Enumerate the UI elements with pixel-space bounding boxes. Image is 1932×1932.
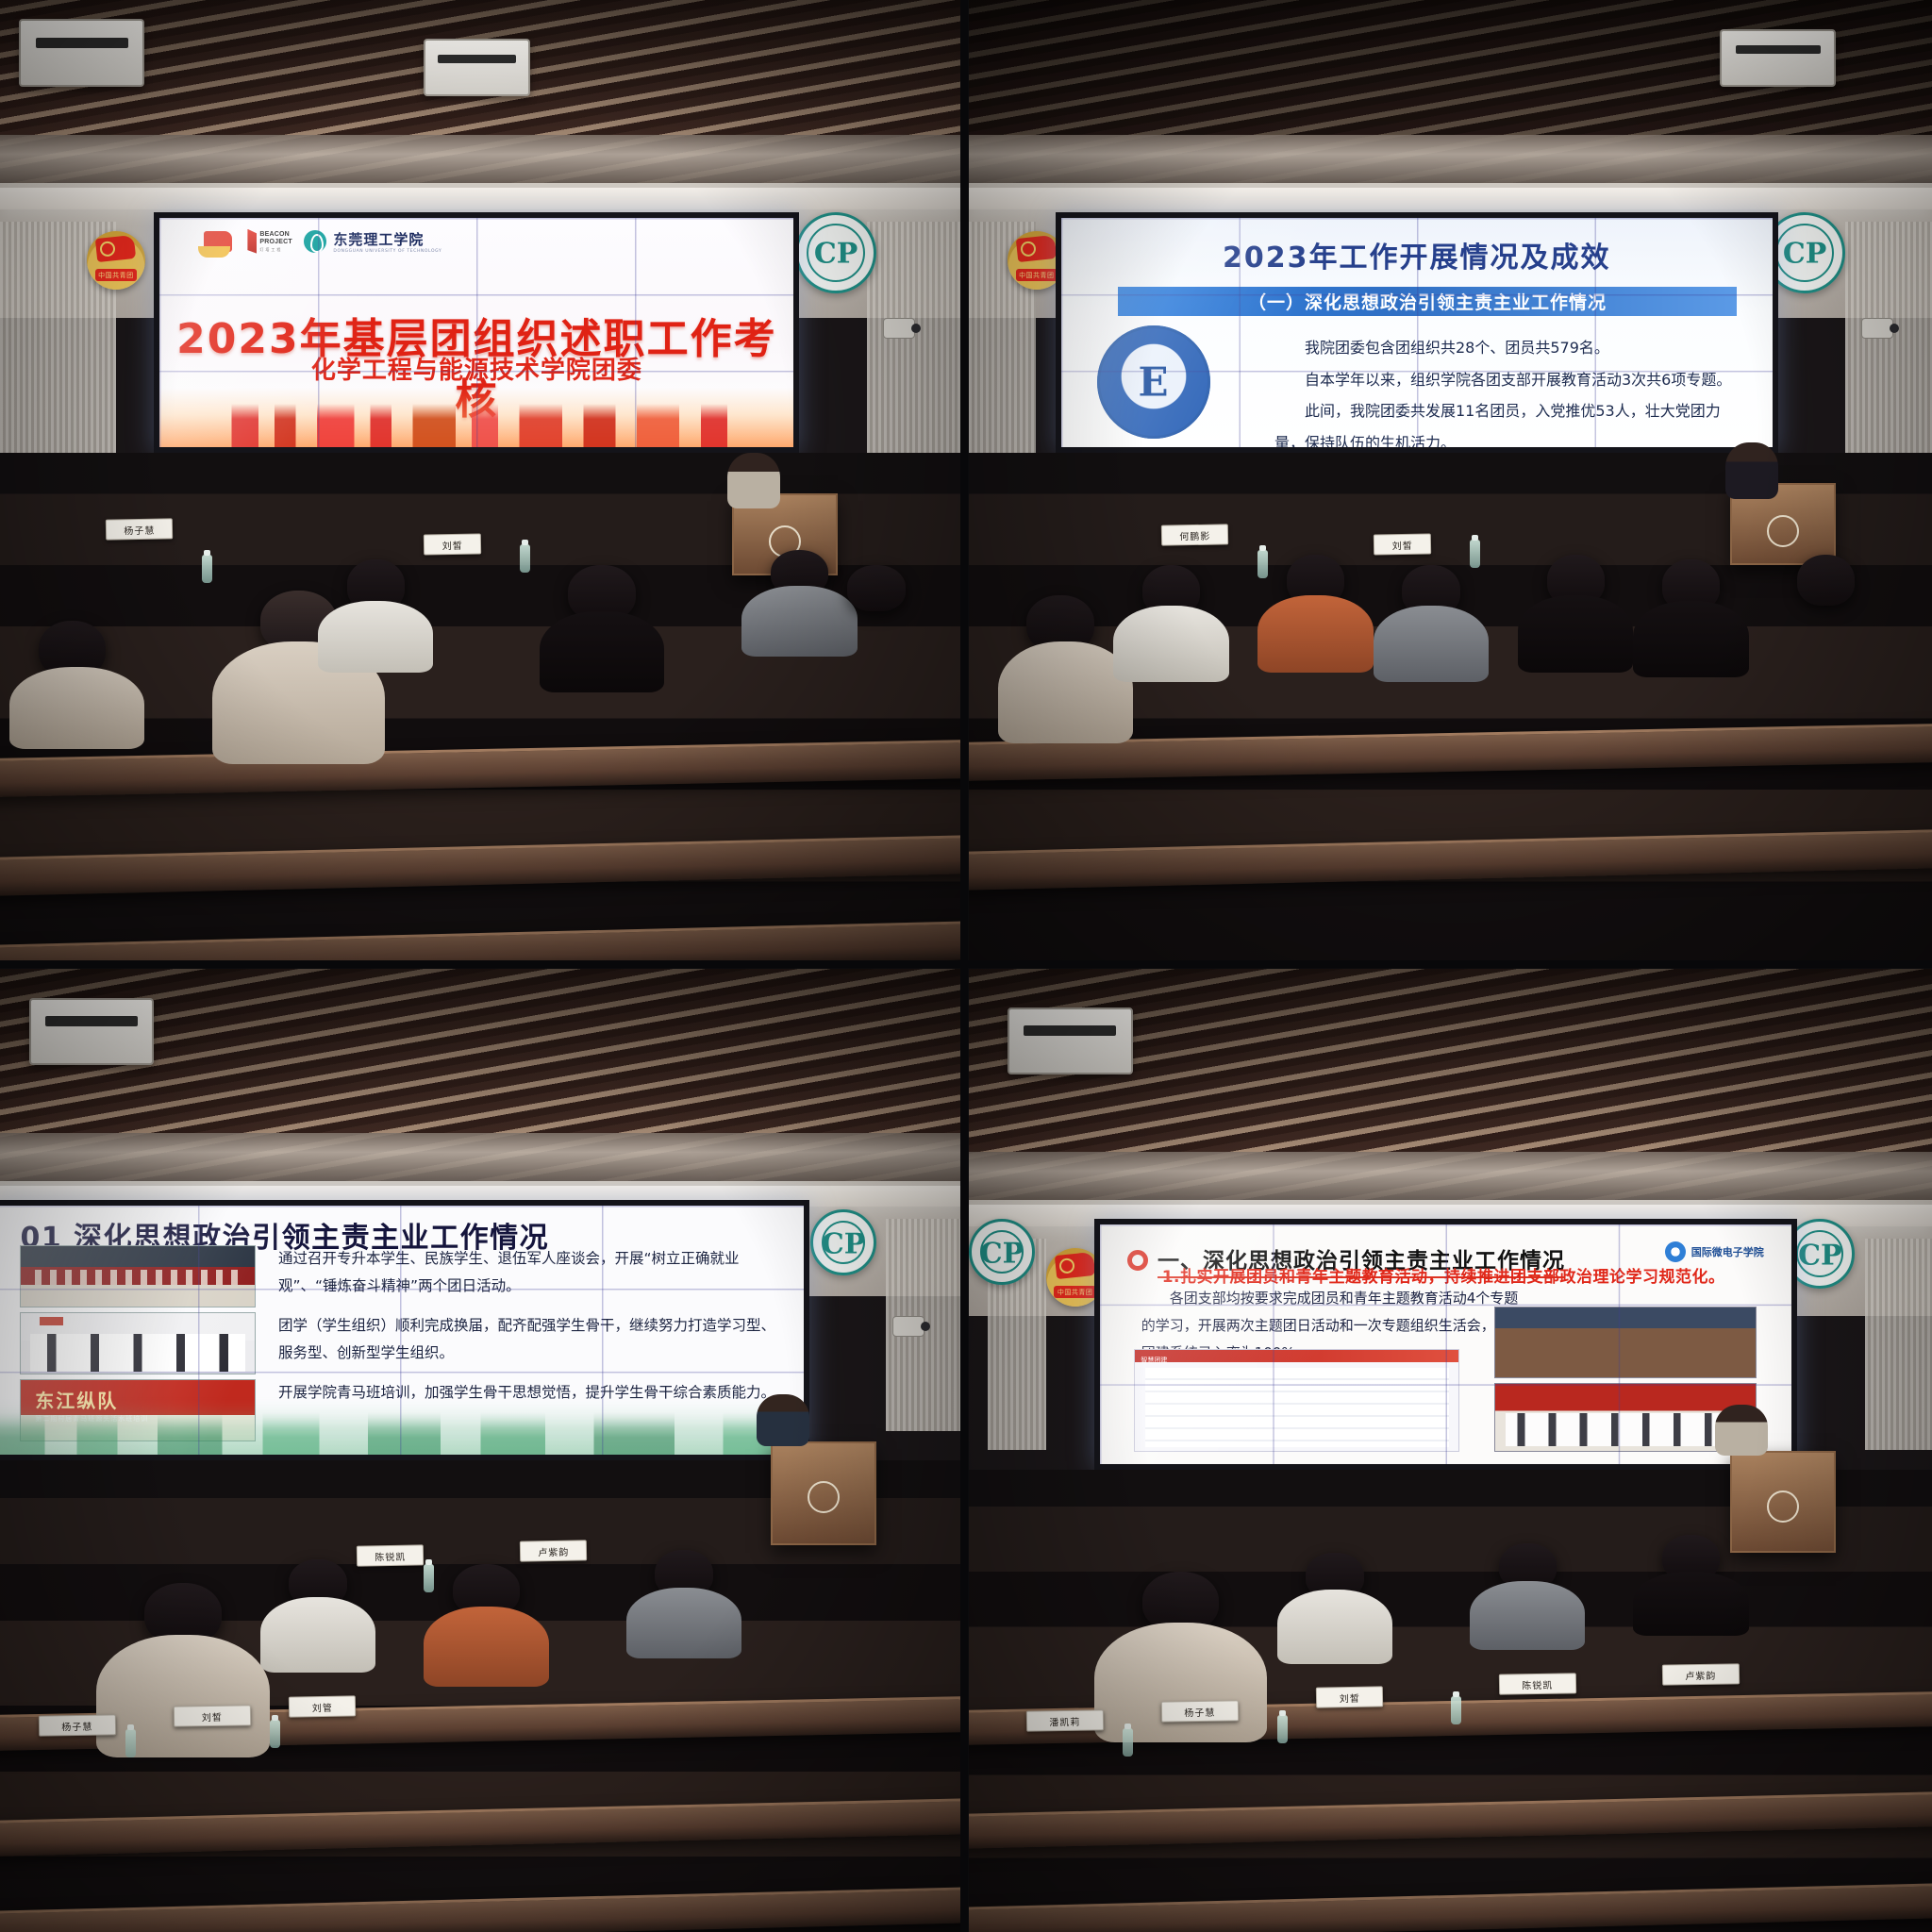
cyl-flag-logo-icon [204, 231, 232, 252]
collage-seam-horizontal [0, 960, 1932, 968]
slide-logo-row: BEACON PROJECT 灯塔工程 东莞理工学院 DONGGUAN UNIV… [204, 229, 441, 254]
camera-icon [1861, 318, 1893, 339]
desk-row [969, 829, 1932, 891]
dgut-mark-icon [304, 230, 326, 253]
audience-body [1633, 601, 1749, 677]
name-placard: 刘皙 [424, 534, 482, 556]
ceiling-light-strip [0, 135, 963, 183]
wall-light-strip [0, 188, 963, 208]
slide-content: 2023年工作开展情况及成效 （一）深化思想政治引领主责主业工作情况 E 我院团… [1061, 218, 1773, 447]
audience-head [1797, 555, 1855, 606]
audience-hall: 杨子慧 刘皙 [0, 453, 963, 963]
water-bottle [1257, 550, 1268, 578]
slide-subtitle-text: 化学工程与能源技术学院团委 [159, 351, 793, 386]
air-conditioner-vent [1720, 29, 1836, 87]
name-placard: 陈锐凯 [357, 1544, 425, 1566]
desk-row [969, 1882, 1932, 1932]
water-bottle [125, 1729, 136, 1757]
table-title: 智慧团建 [1135, 1353, 1173, 1368]
cyl-flag-icon [1054, 1252, 1094, 1279]
audience-body [318, 601, 434, 673]
desk-row [0, 739, 963, 797]
panel-bottom-right: CP CP 一、深化思想政治引领主责主业工作情况 国际微电子学院 1.扎实开展团… [969, 969, 1932, 1932]
name-placard: 杨子慧 [106, 519, 174, 541]
audience-body [1470, 1581, 1586, 1651]
beacon-sub: 灯塔工程 [259, 246, 291, 254]
cyl-ribbon [1016, 269, 1058, 282]
desk-row [0, 920, 963, 963]
presenter-person [1725, 442, 1778, 499]
audience-body [1374, 606, 1490, 682]
dgut-name-en: DONGGUAN UNIVERSITY OF TECHNOLOGY [333, 249, 441, 254]
slide-paragraph: 此间，我院团委共发展11名团员，入党推优53人，壮大党团力量，保持队伍的生机活力… [1274, 395, 1737, 452]
audience-body [1257, 595, 1374, 672]
audience-body [96, 1635, 270, 1757]
audience-body [741, 586, 858, 658]
water-bottle [520, 544, 530, 573]
wall-slats-right [867, 222, 963, 453]
ceiling-light-strip [969, 135, 1932, 183]
microelectronics-logo: 国际微电子学院 [1665, 1241, 1764, 1262]
audience-body [1633, 1572, 1749, 1637]
list-item-text: 通过召开专升本学生、民族学生、退伍军人座谈会，开展“树立正确就业观”、“锤炼奋斗… [278, 1245, 779, 1299]
desk-row [0, 834, 963, 896]
presenter-person [1715, 1405, 1768, 1456]
school-of-engineering-badge: E [1097, 325, 1210, 439]
slide-paragraph: 自本学年以来，组织学院各团支部开展教育活动3次共6项专题。 [1274, 364, 1737, 396]
air-conditioner-vent [424, 39, 529, 96]
cyl-flag-icon [1016, 235, 1057, 262]
water-bottle [1277, 1715, 1288, 1743]
audience-hall: 陈锐凯 卢紫韵 杨子慧 刘皙 刘管 [0, 1460, 963, 1932]
cyl-ribbon [95, 269, 138, 282]
slide-list: 01 深化思想政治引领主责主业工作情况 通过召开专升本学生、民族学生、退伍军人座… [0, 1206, 804, 1455]
led-screen: 2023年工作开展情况及成效 （一）深化思想政治引领主责主业工作情况 E 我院团… [1056, 212, 1778, 453]
name-placard: 刘皙 [1374, 534, 1432, 556]
air-conditioner-vent [1008, 1008, 1133, 1074]
camera-icon [892, 1316, 924, 1337]
name-placard: 陈锐凯 [1498, 1673, 1575, 1694]
thumbnail-roundtable-photo [20, 1245, 255, 1307]
cyl-emblem [87, 231, 145, 290]
name-placard: 何鹏影 [1161, 524, 1229, 545]
beacon-line2: PROJECT [259, 239, 291, 245]
dgut-name: 东莞理工学院 [333, 231, 424, 248]
slide-subheading: 1.扎实开展团员和青年主题教育活动，持续推进团支部政治理论学习规范化。 [1162, 1263, 1764, 1287]
beacon-project-logo-icon: BEACON PROJECT 灯塔工程 [247, 229, 289, 254]
photo-classroom-meeting [1494, 1307, 1757, 1378]
list-item: 团学（学生组织）顺利完成换届，配齐配强学生骨干，继续努力打造学习型、服务型、创新… [20, 1312, 779, 1374]
table-title-bar: 智慧团建 [1135, 1350, 1458, 1362]
table-rows [1145, 1368, 1449, 1446]
audience-body [1277, 1590, 1393, 1663]
dgut-emblem: CP [795, 212, 876, 293]
water-bottle [1470, 540, 1480, 568]
led-screen: 一、深化思想政治引领主责主业工作情况 国际微电子学院 1.扎实开展团员和青年主题… [1094, 1219, 1797, 1469]
skyline-graphic [159, 388, 793, 447]
air-conditioner-vent [19, 19, 144, 86]
desk-row [0, 1887, 963, 1932]
panel-top-left: CP BEACON PROJECT 灯塔工程 东莞理工学院 DONGG [0, 0, 963, 963]
photo-collage: CP BEACON PROJECT 灯塔工程 东莞理工学院 DONGG [0, 0, 1932, 1932]
slide-title: BEACON PROJECT 灯塔工程 东莞理工学院 DONGGUAN UNIV… [159, 218, 793, 447]
audience-body [1518, 595, 1634, 672]
led-screen: 01 深化思想政治引领主责主业工作情况 通过召开专升本学生、民族学生、退伍军人座… [0, 1200, 809, 1460]
audience-body [1113, 606, 1229, 682]
name-placard: 卢紫韵 [1662, 1663, 1740, 1685]
camera-icon [883, 318, 915, 339]
audience-body [424, 1607, 549, 1687]
audience-body [260, 1597, 376, 1673]
list-item-text: 团学（学生组织）顺利完成换届，配齐配强学生骨干，继续努力打造学习型、服务型、创新… [278, 1312, 779, 1366]
led-screen: BEACON PROJECT 灯塔工程 东莞理工学院 DONGGUAN UNIV… [154, 212, 799, 453]
eco-skyline-graphic [0, 1394, 804, 1454]
audience-body [1094, 1623, 1268, 1742]
microelectronics-label: 国际微电子学院 [1691, 1244, 1764, 1259]
water-bottle [202, 555, 212, 583]
name-placard: 杨子慧 [1161, 1700, 1239, 1722]
name-placard: 刘管 [289, 1695, 357, 1717]
audience-hall: 何鹏影 刘皙 [969, 453, 1932, 963]
name-placard: 刘皙 [174, 1705, 251, 1726]
cyl-ribbon [1054, 1286, 1096, 1299]
ceiling-light-strip [969, 1152, 1932, 1200]
audience-body [540, 611, 665, 693]
desk-row [969, 1790, 1932, 1849]
name-placard: 卢紫韵 [520, 1540, 588, 1561]
audience-body [626, 1588, 742, 1658]
name-placard: 潘凯莉 [1026, 1709, 1104, 1731]
presenter-person [757, 1394, 809, 1446]
screenshot-smart-league-table: 智慧团建 [1134, 1349, 1459, 1452]
dgut-logo: 东莞理工学院 DONGGUAN UNIVERSITY OF TECHNOLOGY [304, 229, 441, 254]
wall-light-strip [969, 188, 1932, 208]
audience-body [998, 641, 1133, 743]
water-bottle [424, 1564, 434, 1592]
slide-paragraph: 我院团委包含团组织共28个、团员共579名。 [1274, 332, 1737, 364]
audience-body [9, 667, 144, 749]
panel-bottom-left: CP 01 深化思想政治引领主责主业工作情况 通过召开专升本学生、民族学生、退伍… [0, 969, 963, 1932]
bullet-ring-icon [1127, 1250, 1148, 1271]
dgut-emblem: CP [810, 1209, 876, 1275]
wall-slats-right [1865, 1239, 1932, 1451]
podium [1730, 1451, 1836, 1553]
slide-body: 我院团委包含团组织共28个、团员共579名。 自本学年以来，组织学院各团支部开展… [1274, 332, 1737, 453]
water-bottle [1451, 1696, 1461, 1724]
desk-row [0, 1797, 963, 1857]
slide-banner-text: （一）深化思想政治引领主责主业工作情况 [1248, 289, 1607, 314]
cyl-flag-icon [95, 235, 136, 262]
microelectronics-mark-icon [1665, 1241, 1686, 1262]
slide-red-heading: 一、深化思想政治引领主责主业工作情况 国际微电子学院 1.扎实开展团员和青年主题… [1100, 1224, 1791, 1463]
water-bottle [270, 1720, 280, 1748]
slide-heading: 2023年工作开展情况及成效 [1061, 234, 1773, 275]
podium [771, 1441, 876, 1545]
name-placard: 刘皙 [1315, 1687, 1383, 1708]
audience-head [847, 565, 905, 611]
name-placard: 杨子慧 [39, 1714, 116, 1736]
panel-top-right: CP 2023年工作开展情况及成效 （一）深化思想政治引领主责主业工作情况 E … [969, 0, 1932, 963]
dgut-emblem: CP [969, 1219, 1035, 1285]
slide-banner: （一）深化思想政治引领主责主业工作情况 [1118, 287, 1737, 317]
presenter-person [727, 453, 780, 509]
list-item: 通过召开专升本学生、民族学生、退伍军人座谈会，开展“树立正确就业观”、“锤炼奋斗… [20, 1245, 779, 1307]
water-bottle [1123, 1728, 1133, 1757]
thumbnail-student-lineup-photo [20, 1312, 255, 1374]
air-conditioner-vent [29, 998, 155, 1065]
audience-hall: 潘凯莉 杨子慧 刘皙 陈锐凯 卢紫韵 [969, 1470, 1932, 1932]
beacon-line1: BEACON [259, 231, 290, 238]
ceiling-light-strip [0, 1133, 963, 1181]
